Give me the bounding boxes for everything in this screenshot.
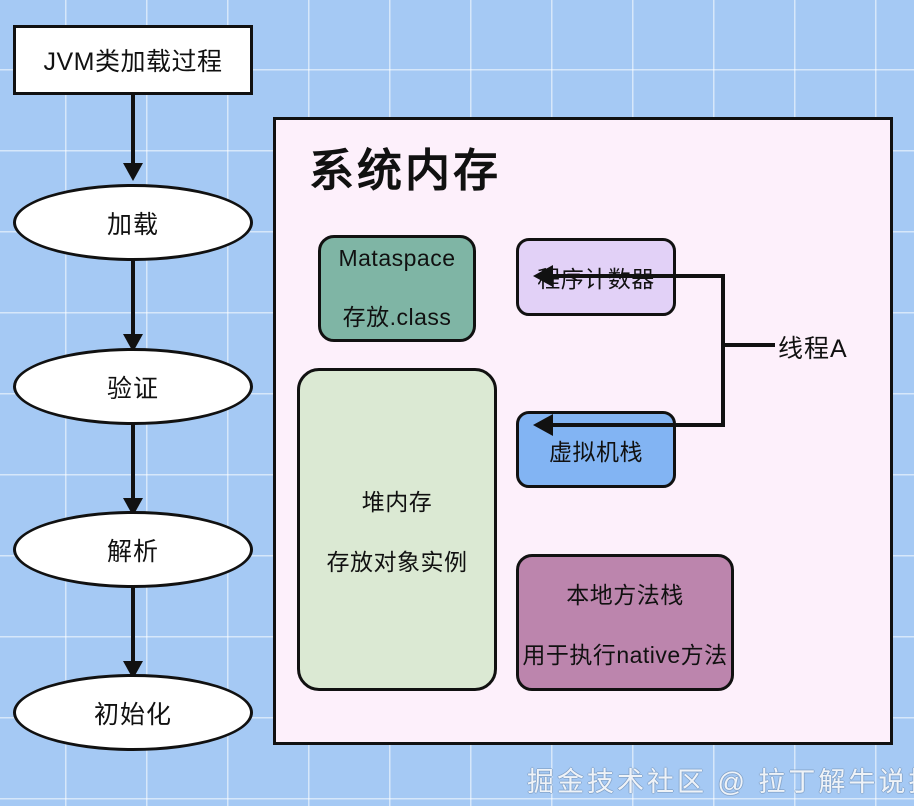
flow-connector-2 — [131, 258, 135, 338]
thread-arrow-to-vm-stack-icon — [533, 414, 553, 436]
flow-start-label: JVM类加载过程 — [43, 42, 222, 78]
flow-step-verify: 验证 — [13, 348, 253, 425]
flow-step-resolve: 解析 — [13, 511, 253, 588]
metaspace-box: Mataspace 存放.class — [318, 235, 476, 342]
flow-start-box: JVM类加载过程 — [13, 25, 253, 95]
metaspace-subtitle: 存放.class — [343, 298, 452, 332]
flow-step-load: 加载 — [13, 184, 253, 261]
watermark-text: 掘金技术社区 @ 拉丁解牛说技术 — [527, 760, 914, 799]
flow-connector-3 — [131, 422, 135, 502]
thread-bracket-vertical-line — [721, 274, 725, 427]
heap-subtitle: 存放对象实例 — [327, 543, 468, 577]
heap-title: 堆内存 — [362, 483, 433, 517]
system-memory-title: 系统内存 — [309, 134, 501, 199]
flow-connector-1 — [131, 95, 135, 167]
thread-bracket-stub-line — [723, 343, 775, 347]
system-memory-panel: 系统内存 Mataspace 存放.class 堆内存 存放对象实例 程序计数器… — [273, 117, 893, 745]
vm-stack-title: 虚拟机栈 — [549, 433, 643, 467]
flow-step-label-resolve: 解析 — [107, 532, 159, 568]
thread-bracket-bottom-line — [553, 423, 723, 427]
flow-arrowhead-1 — [123, 163, 143, 181]
metaspace-title: Mataspace — [338, 245, 455, 272]
thread-bracket-top-line — [553, 274, 723, 278]
flow-step-label-initialize: 初始化 — [94, 695, 172, 731]
native-stack-subtitle: 用于执行native方法 — [522, 636, 727, 670]
flow-step-initialize: 初始化 — [13, 674, 253, 751]
native-stack-title: 本地方法栈 — [566, 576, 684, 610]
flow-step-label-verify: 验证 — [107, 369, 159, 405]
flow-step-label-load: 加载 — [107, 205, 159, 241]
native-method-stack-box: 本地方法栈 用于执行native方法 — [516, 554, 734, 691]
thread-label: 线程A — [778, 329, 848, 365]
diagram-canvas: JVM类加载过程 加载 验证 解析 初始化 系统内存 Mataspace 存放.… — [0, 0, 914, 806]
heap-memory-box: 堆内存 存放对象实例 — [297, 368, 497, 691]
thread-arrow-to-program-counter-icon — [533, 265, 553, 287]
flow-connector-4 — [131, 585, 135, 665]
